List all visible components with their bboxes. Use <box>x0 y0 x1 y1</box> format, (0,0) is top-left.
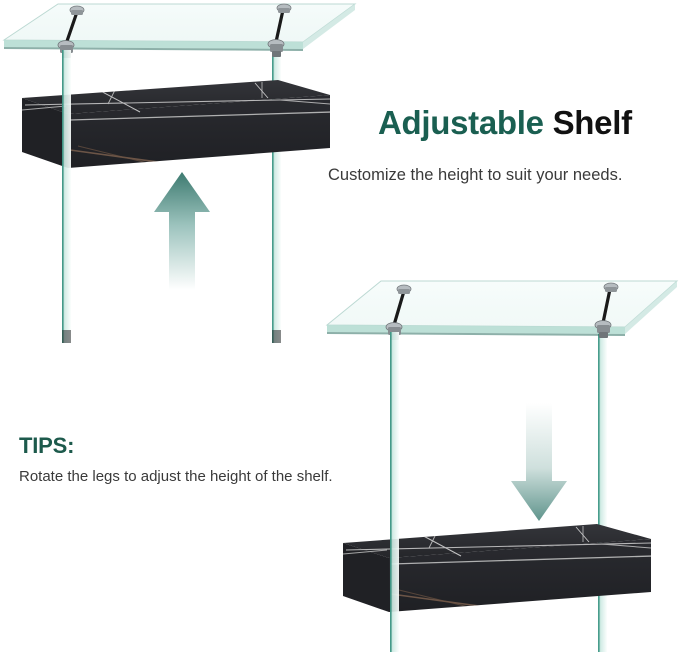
page-subtitle: Customize the height to suit your needs. <box>328 166 622 185</box>
glass-tabletop-high <box>4 4 355 51</box>
page-title: Adjustable Shelf <box>378 104 632 142</box>
arrow-down-icon <box>503 400 575 525</box>
tips-body-text: Rotate the legs to adjust the height of … <box>19 468 333 485</box>
headline-plain-word: Shelf <box>553 104 632 141</box>
table-legs-rear-low <box>598 330 607 652</box>
glass-tabletop-low <box>327 281 677 336</box>
arrow-up-icon <box>146 168 218 293</box>
product-feature-graphic: Adjustable Shelf Customize the height to… <box>0 0 679 658</box>
tips-heading: TIPS: <box>19 433 74 459</box>
table-illustration-low <box>315 265 679 658</box>
console-table-shelf-high <box>0 0 360 345</box>
table-legs-front-low <box>390 332 399 652</box>
headline-accent-word: Adjustable <box>378 104 544 141</box>
console-table-shelf-low <box>315 265 679 658</box>
